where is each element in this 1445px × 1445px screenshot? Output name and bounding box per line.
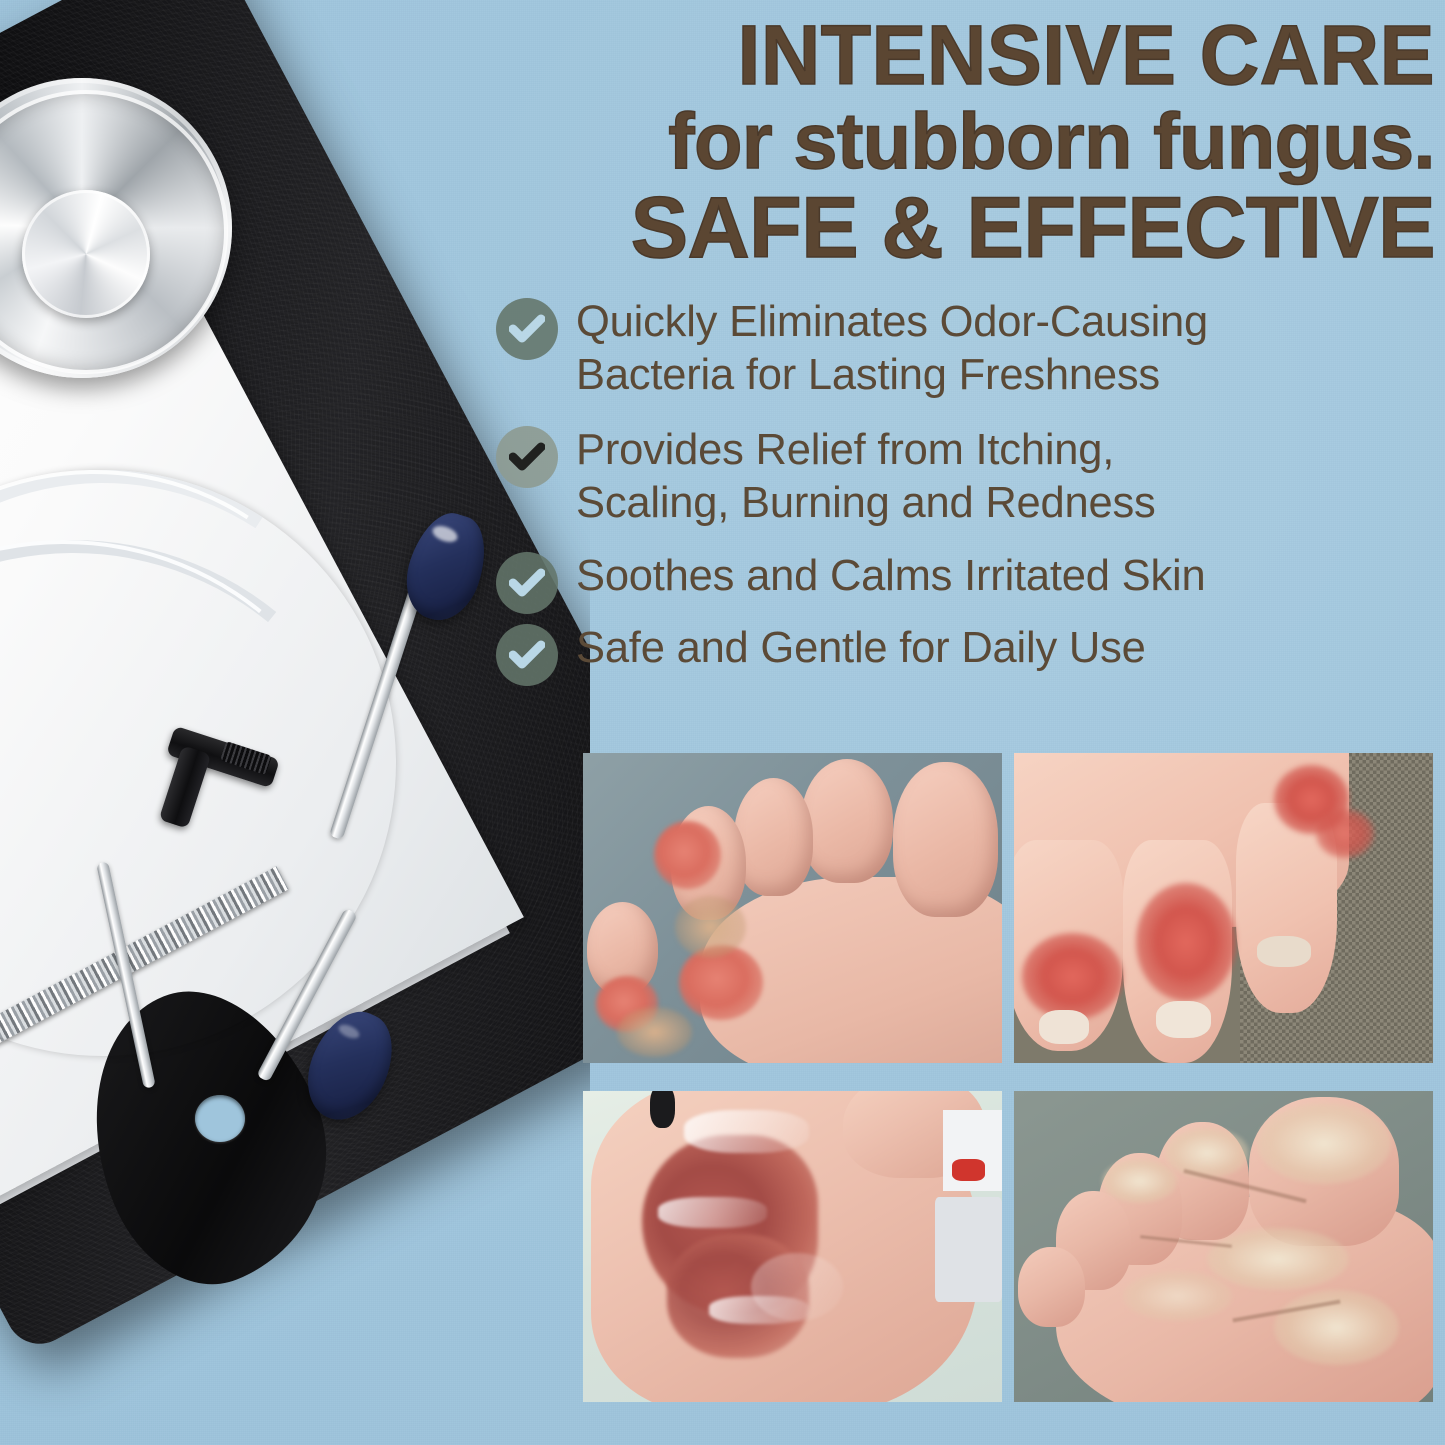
condition-photo-grid: [583, 753, 1433, 1402]
headline-line-1: INTENSIVE CARE: [516, 14, 1435, 96]
benefit-list: Quickly Eliminates Odor-Causing Bacteria…: [496, 294, 1441, 692]
check-circle-icon: [496, 426, 558, 488]
check-circle-icon: [496, 298, 558, 360]
headline-line-2: for stubborn fungus.: [497, 102, 1435, 179]
foot-sole-with-severe-scaling-lesion-photo: [583, 1091, 1002, 1402]
foot-sole-with-red-irritated-toes-photo: [583, 753, 1002, 1063]
benefit-text-3: Soothes and Calms Irritated Skin: [576, 548, 1206, 603]
benefit-text-2: Provides Relief from Itching, Scaling, B…: [576, 422, 1156, 530]
check-circle-icon: [496, 552, 558, 614]
check-circle-icon: [496, 624, 558, 686]
benefit-item-1: Quickly Eliminates Odor-Causing Bacteria…: [496, 294, 1441, 416]
headline-block: INTENSIVE CARE for stubborn fungus. SAFE…: [497, 14, 1435, 270]
clipboard-hanging-hole: [195, 1095, 245, 1142]
inflamed-red-toes-on-carpet-photo: [1014, 753, 1433, 1063]
benefit-item-2: Provides Relief from Itching, Scaling, B…: [496, 422, 1441, 542]
benefit-text-2-line-2: Scaling, Burning and Redness: [576, 479, 1156, 527]
benefit-text-2-line-1: Provides Relief from Itching,: [576, 426, 1114, 474]
benefit-text-1-line-2: Bacteria for Lasting Freshness: [576, 351, 1160, 399]
benefit-text-1: Quickly Eliminates Odor-Causing Bacteria…: [576, 294, 1208, 402]
product-feature-poster: INTENSIVE CARE for stubborn fungus. SAFE…: [0, 0, 1445, 1445]
chest-piece-diaphragm: [22, 190, 150, 318]
benefit-item-4: Safe and Gentle for Daily Use: [496, 620, 1441, 686]
benefit-text-4: Safe and Gentle for Daily Use: [576, 620, 1146, 675]
dry-flaking-scaly-foot-photo: [1014, 1091, 1433, 1402]
headline-line-3: SAFE & EFFECTIVE: [497, 186, 1435, 270]
benefit-text-1-line-1: Quickly Eliminates Odor-Causing: [576, 298, 1208, 346]
benefit-item-3: Soothes and Calms Irritated Skin: [496, 548, 1441, 614]
